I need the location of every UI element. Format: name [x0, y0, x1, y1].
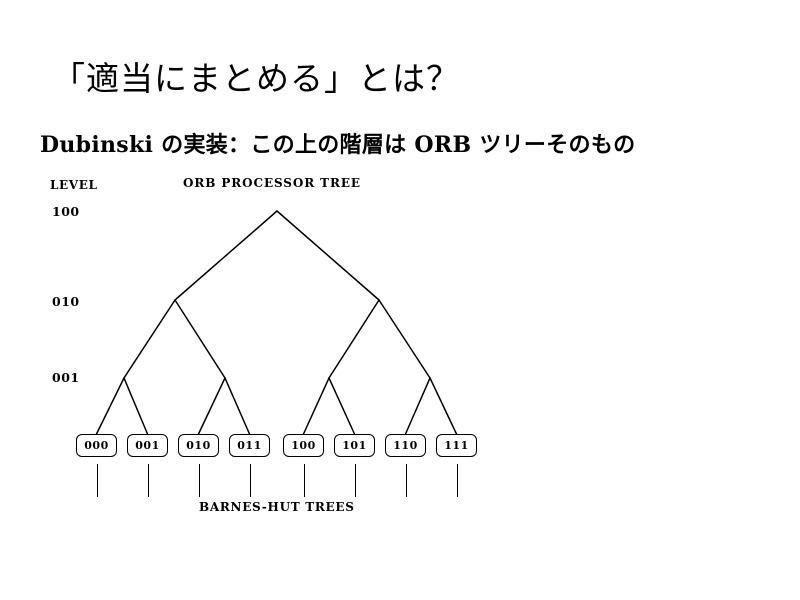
- edge-l3-leaf-000: [97, 378, 125, 434]
- leaf-node-label: 100: [291, 440, 315, 451]
- leaf-node-110[interactable]: 110: [385, 434, 426, 457]
- slide-subtitle: Dubinski の実装：この上の階層は ORB ツリーそのもの: [40, 130, 635, 160]
- barnes-hut-stem: [148, 464, 149, 497]
- leaf-node-100[interactable]: 100: [283, 434, 324, 457]
- edge-root-l2-1: [277, 211, 379, 300]
- barnes-hut-stem: [97, 464, 98, 497]
- edge-l3-leaf-001: [124, 378, 148, 434]
- leaf-node-label: 010: [186, 440, 210, 451]
- edge-l2-l3-3: [379, 300, 430, 378]
- leaf-node-001[interactable]: 001: [127, 434, 168, 457]
- edge-l3-leaf-110: [406, 378, 431, 434]
- leaf-node-label: 001: [135, 440, 159, 451]
- leaf-node-label: 011: [237, 440, 261, 451]
- leaf-node-011[interactable]: 011: [229, 434, 270, 457]
- leaf-node-111[interactable]: 111: [436, 434, 477, 457]
- leaf-node-label: 000: [84, 440, 108, 451]
- leaf-node-label: 110: [393, 440, 417, 451]
- barnes-hut-stem: [199, 464, 200, 497]
- edge-l2-l3-2: [329, 300, 379, 378]
- barnes-hut-stem: [406, 464, 407, 497]
- slide-canvas: 「適当にまとめる」とは？ Dubinski の実装：この上の階層は ORB ツリ…: [0, 0, 800, 600]
- edge-l3-leaf-101: [329, 378, 355, 434]
- tree-edge-lines: [0, 168, 800, 538]
- barnes-hut-stem: [250, 464, 251, 497]
- barnes-hut-stem: [304, 464, 305, 497]
- edge-l2-l3-1: [175, 300, 225, 378]
- edge-l3-leaf-011: [225, 378, 250, 434]
- leaf-node-010[interactable]: 010: [178, 434, 219, 457]
- leaf-node-label: 111: [444, 440, 468, 451]
- edge-l2-l3-0: [124, 300, 175, 378]
- leaf-node-101[interactable]: 101: [334, 434, 375, 457]
- leaf-node-000[interactable]: 000: [76, 434, 117, 457]
- barnes-hut-stem: [355, 464, 356, 497]
- edge-root-l2-0: [175, 211, 277, 300]
- edge-l3-leaf-010: [199, 378, 226, 434]
- edge-l3-leaf-100: [304, 378, 330, 434]
- orb-processor-tree-diagram: LEVEL ORB PROCESSOR TREE BARNES-HUT TREE…: [0, 168, 800, 538]
- page-title: 「適当にまとめる」とは？: [52, 58, 460, 100]
- barnes-hut-stem: [457, 464, 458, 497]
- edge-l3-leaf-111: [430, 378, 457, 434]
- leaf-node-label: 101: [342, 440, 366, 451]
